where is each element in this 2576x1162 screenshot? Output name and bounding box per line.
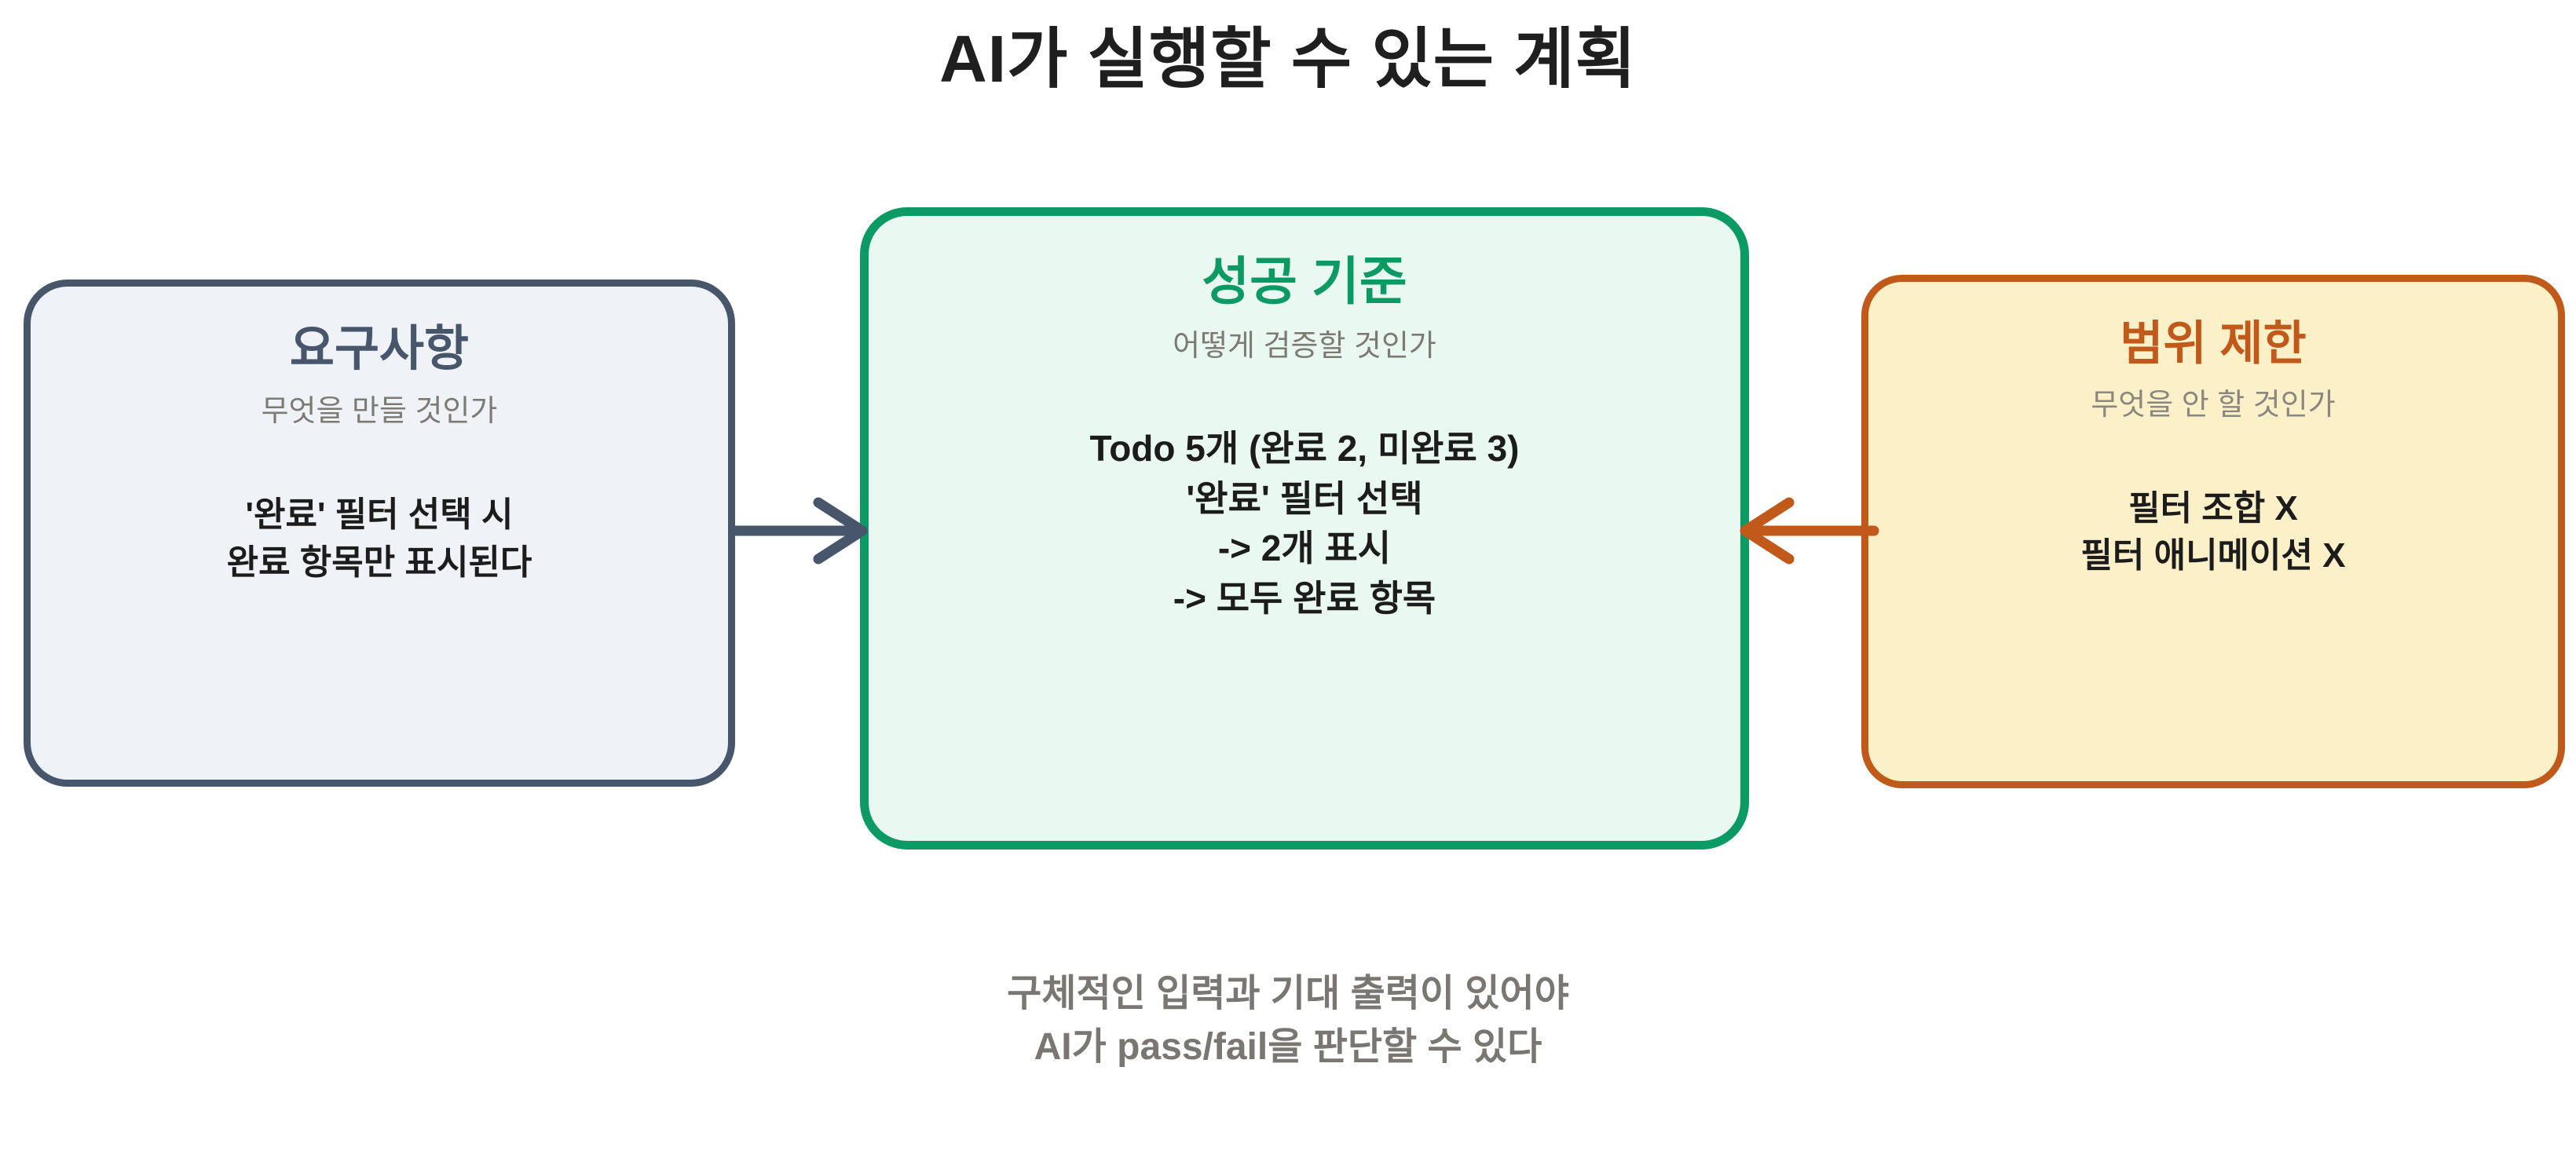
node-success-criteria: 성공 기준 어떻게 검증할 것인가 Todo 5개 (완료 2, 미완료 3) …	[860, 207, 1749, 850]
footer-note: 구체적인 입력과 기대 출력이 있어야 AI가 pass/fail을 판단할 수…	[0, 967, 2576, 1074]
arrow-scope-to-success-icon	[1740, 495, 1877, 569]
node-success-criteria-subtitle: 어떻게 검증할 것인가	[1173, 329, 1436, 365]
node-success-criteria-title: 성공 기준	[1202, 252, 1407, 312]
node-scope-limit-body: 필터 조합 X 필터 애니메이션 X	[2080, 485, 2345, 580]
node-requirements-subtitle: 무엇을 만들 것인가	[262, 394, 498, 430]
node-requirements-body: '완료' 필터 선택 시 완료 항목만 표시된다	[227, 491, 532, 586]
node-scope-limit-title: 범위 제한	[2120, 316, 2306, 371]
node-requirements-title: 요구사항	[290, 321, 469, 377]
arrow-requirements-to-success-icon	[730, 495, 868, 569]
node-requirements: 요구사항 무엇을 만들 것인가 '완료' 필터 선택 시 완료 항목만 표시된다	[24, 280, 735, 787]
diagram-canvas: AI가 실행할 수 있는 계획 요구사항 무엇을 만들 것인가 '완료' 필터 …	[0, 0, 2576, 1162]
page-title: AI가 실행할 수 있는 계획	[0, 22, 2576, 96]
node-scope-limit: 범위 제한 무엇을 안 할 것인가 필터 조합 X 필터 애니메이션 X	[1861, 275, 2565, 788]
node-scope-limit-subtitle: 무엇을 안 할 것인가	[2091, 388, 2335, 424]
node-success-criteria-body: Todo 5개 (완료 2, 미완료 3) '완료' 필터 선택 -> 2개 표…	[1090, 424, 1520, 623]
